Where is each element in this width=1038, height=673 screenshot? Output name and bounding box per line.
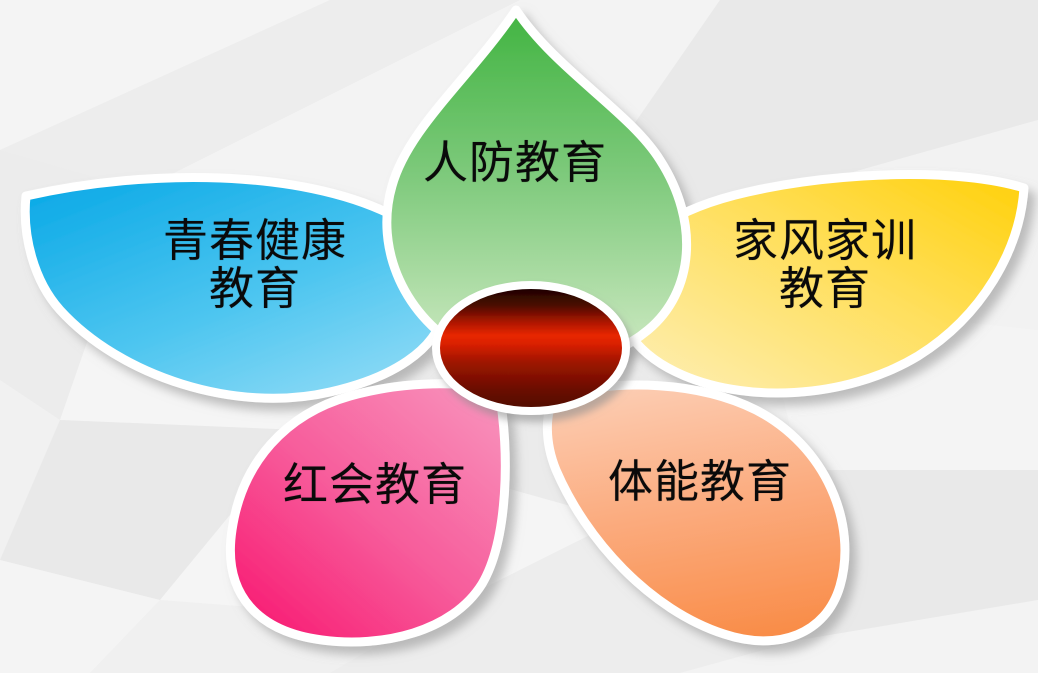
petal-bottom-left-shape[interactable] — [230, 384, 505, 642]
slide-canvas: 人防教育 青春健康 教育 家风家训 教育 红会教育 体能教育 — [0, 0, 1038, 673]
petal-bottom-right-shape[interactable] — [547, 385, 845, 641]
center-node[interactable] — [436, 285, 626, 411]
petal-left-shape[interactable] — [25, 177, 445, 398]
flower-diagram — [0, 0, 1038, 673]
